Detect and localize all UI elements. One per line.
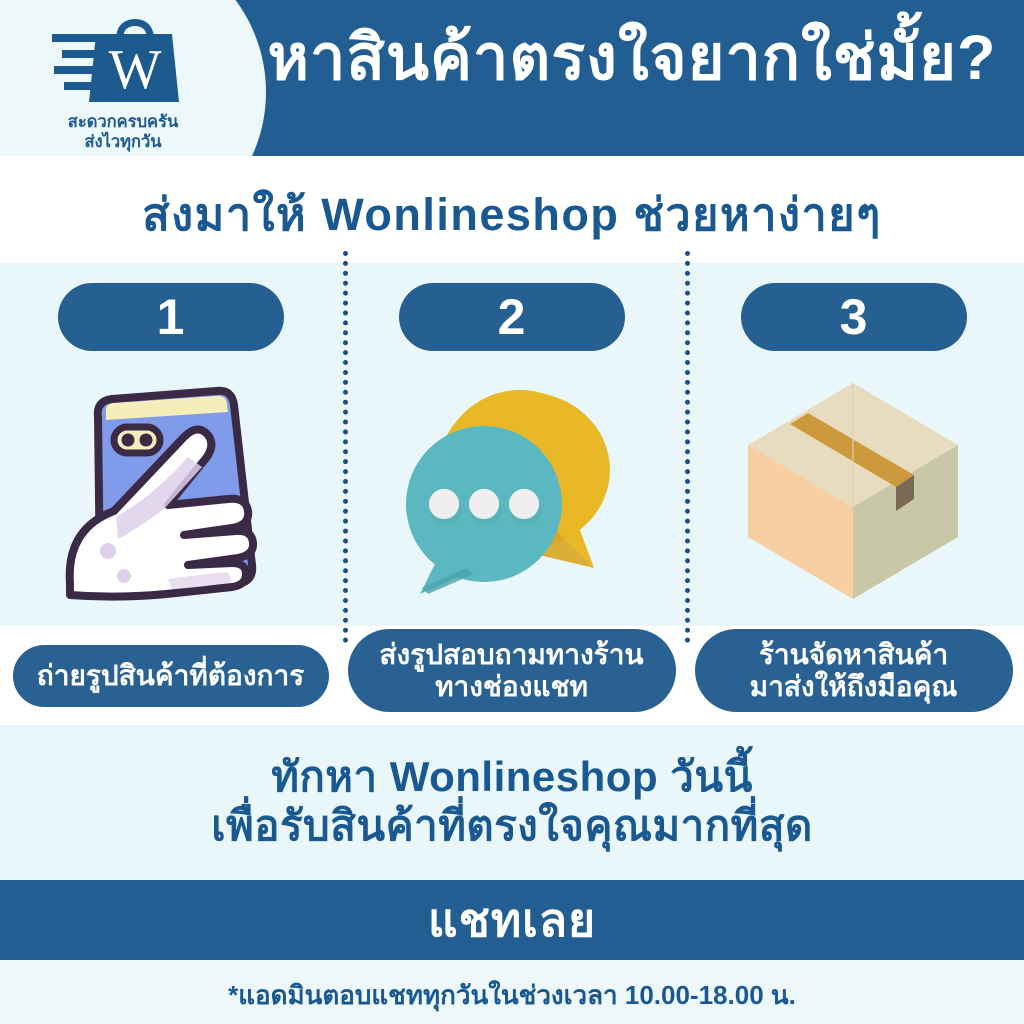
footnote: *แอดมินตอบแชททุกวันในช่วงเวลา 10.00-18.0…: [0, 975, 1024, 1016]
step-3-label-line1: ร้านจัดหาสินค้า: [750, 639, 958, 670]
step-1: 1: [0, 263, 341, 725]
step-3-label: ร้านจัดหาสินค้า มาส่งให้ถึงมือคุณ: [695, 629, 1013, 712]
step-3-number: 3: [741, 283, 967, 351]
promo-poster: หาสินค้าตรงใจยากใช่มั้ย? W สะดวกครบครัน …: [0, 0, 1024, 1024]
page-title: หาสินค้าตรงใจยากใช่มั้ย?: [252, 25, 1012, 91]
shopping-bag-with-speed-lines-icon: W: [48, 12, 198, 110]
brand-logo: W สะดวกครบครัน ส่งไวทุกวัน: [28, 12, 218, 152]
outro-line1: ทักหา Wonlineshop วันนี้: [0, 752, 1024, 801]
chat-bubbles-icon: [398, 382, 626, 600]
step-3-label-line2: มาส่งให้ถึงมือคุณ: [750, 671, 958, 702]
step-1-number: 1: [58, 283, 284, 351]
logo-letter: W: [109, 39, 162, 101]
step-2-number: 2: [399, 283, 625, 351]
step-3-illustration: [729, 371, 979, 611]
chat-now-label: แชทเลย: [428, 897, 596, 943]
step-2-label-line1: ส่งรูปสอบถามทางร้าน: [379, 639, 643, 670]
logo-tagline-line1: สะดวกครบครัน: [28, 112, 218, 132]
step-2: 2: [341, 263, 682, 725]
step-2-label: ส่งรูปสอบถามทางร้าน ทางช่องแชท: [348, 629, 676, 712]
step-1-label-text: ถ่ายรูปสินค้าที่ต้องการ: [37, 660, 304, 691]
steps-section: 1: [0, 263, 1024, 725]
outro-text: ทักหา Wonlineshop วันนี้ เพื่อรับสินค้าท…: [0, 752, 1024, 850]
step-1-illustration: [46, 371, 296, 611]
chat-now-button[interactable]: แชทเลย: [0, 880, 1024, 960]
hand-holding-phone-icon: [56, 379, 286, 604]
step-2-illustration: [387, 371, 637, 611]
step-1-label: ถ่ายรูปสินค้าที่ต้องการ: [13, 645, 329, 707]
logo-tagline-line2: ส่งไวทุกวัน: [28, 132, 218, 152]
subtitle: ส่งมาให้ Wonlineshop ช่วยหาง่ายๆ: [0, 178, 1024, 250]
step-2-label-line2: ทางช่องแชท: [379, 671, 643, 702]
outro-line2: เพื่อรับสินค้าที่ตรงใจคุณมากที่สุด: [0, 801, 1024, 850]
parcel-box-icon: [736, 377, 971, 605]
step-3: 3 ร้านจัดห: [683, 263, 1024, 725]
